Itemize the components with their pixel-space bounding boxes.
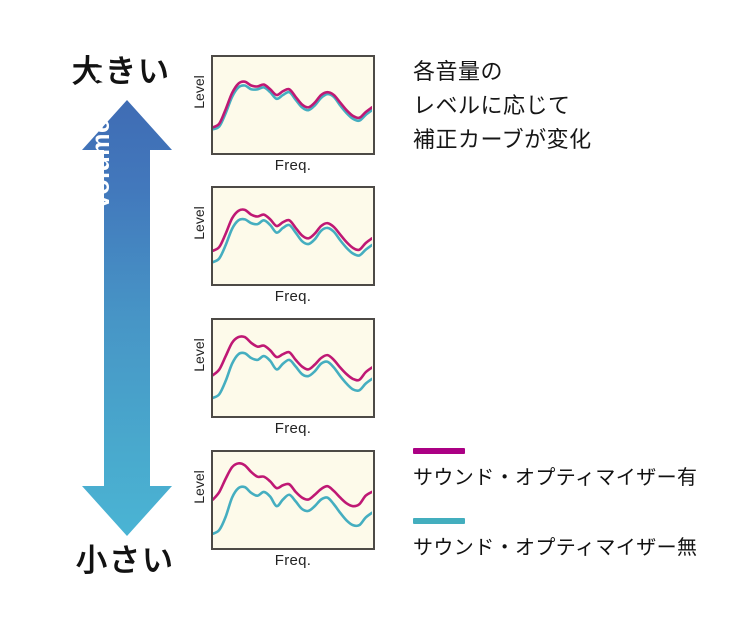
chart-4-plot-area: [211, 450, 375, 550]
legend-swatch-without-optimizer: [413, 518, 465, 524]
chart-1-x-axis-label: Freq.: [211, 157, 375, 174]
curve-without-optimizer: [213, 487, 372, 534]
curve-with-optimizer: [213, 463, 372, 506]
legend-item-with-optimizer: サウンド・オプティマイザー有: [413, 448, 713, 490]
frequency-response-chart-2: Level Freq.: [178, 186, 388, 286]
curve-with-optimizer: [213, 336, 372, 380]
chart-2-x-axis-label: Freq.: [211, 288, 375, 305]
chart-3-x-axis-label: Freq.: [211, 420, 375, 437]
chart-1-plot-area: [211, 55, 375, 155]
frequency-response-chart-1: Level Freq.: [178, 55, 388, 155]
volume-level-arrow: [80, 98, 180, 538]
volume-axis-bottom-label: 小さい: [76, 535, 175, 580]
chart-2-y-axis-label: Level: [191, 193, 207, 253]
callout-line-2: レベルに応じて: [413, 90, 592, 124]
legend-item-without-optimizer: サウンド・オプティマイザー無: [413, 518, 713, 560]
chart-1-y-axis-label: Level: [191, 62, 207, 122]
frequency-response-chart-4: Level Freq.: [178, 450, 388, 550]
legend-swatch-with-optimizer: [413, 448, 465, 454]
callout-text: 各音量の レベルに応じて 補正カーブが変化: [413, 56, 592, 158]
chart-2-plot-area: [211, 186, 375, 286]
frequency-response-chart-3: Level Freq.: [178, 318, 388, 418]
chart-3-y-axis-label: Level: [191, 325, 207, 385]
legend-label-without-optimizer: サウンド・オプティマイザー無: [413, 531, 713, 560]
callout-line-3: 補正カーブが変化: [413, 124, 592, 158]
legend-label-with-optimizer: サウンド・オプティマイザー有: [413, 461, 713, 490]
figure-canvas: 大きい Volume Level 小さい Level F: [0, 0, 740, 621]
legend: サウンド・オプティマイザー有 サウンド・オプティマイザー無: [413, 448, 713, 588]
volume-axis-top-label: 大きい: [72, 46, 171, 91]
chart-4-y-axis-label: Level: [191, 457, 207, 517]
callout-line-1: 各音量の: [413, 56, 592, 90]
chart-3-plot-area: [211, 318, 375, 418]
chart-4-x-axis-label: Freq.: [211, 552, 375, 569]
